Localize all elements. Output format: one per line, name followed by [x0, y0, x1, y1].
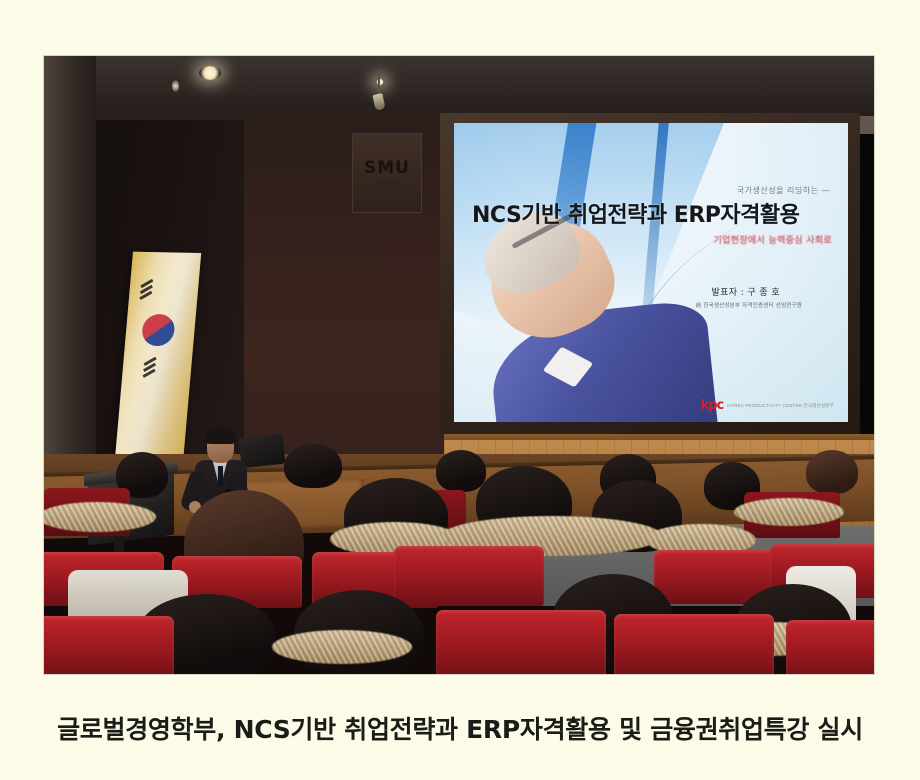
projection-screen: 국가생산성을 리딩하는 — NCS기반 취업전략과 ERP자격활용 기업현장에서… — [454, 123, 848, 422]
pendant-rod — [378, 70, 380, 96]
kpc-logo-mark: kpc — [701, 399, 724, 412]
fur-collar — [44, 502, 156, 532]
slide-title: NCS기반 취업전략과 ERP자격활용 — [472, 197, 838, 229]
page-root: SMU 상명대학교 국가생산성을 리딩하는 — NCS기반 취업전략과 ERP자… — [0, 0, 920, 780]
event-photo: SMU 상명대학교 국가생산성을 리딩하는 — NCS기반 취업전략과 ERP자… — [44, 56, 874, 674]
presenter-hair — [205, 428, 236, 444]
audience-head — [436, 450, 486, 492]
theater-seat — [44, 616, 174, 674]
kpc-logo-text: KOREA PRODUCTIVITY CENTER 한국생산성본부 — [727, 403, 834, 409]
smu-logo: SMU — [364, 160, 410, 177]
slide-tagline: 기업현장에서 능력중심 사회로 — [714, 233, 832, 246]
fur-collar — [272, 630, 412, 664]
audience-head — [284, 444, 342, 488]
theater-seat — [394, 546, 544, 606]
audience-area — [44, 444, 874, 674]
caption-text: 글로벌경영학부, NCS기반 취업전략과 ERP자격활용 및 금융권취업특강 실… — [57, 710, 863, 746]
smu-banner: SMU 상명대학교 — [352, 133, 422, 213]
ceiling-light-icon — [199, 66, 221, 80]
slide-affiliation: 前 한국생산성본부 자격인증센터 선임연구원 — [696, 301, 802, 309]
photo-caption: 글로벌경영학부, NCS기반 취업전략과 ERP자격활용 및 금융권취업특강 실… — [0, 697, 920, 759]
slide-kicker: 국가생산성을 리딩하는 — — [737, 185, 830, 196]
slide-presenter: 발표자 : 구 종 호 — [711, 285, 780, 298]
theater-seat — [614, 614, 774, 674]
slide-portrait — [482, 210, 692, 422]
ceiling-light-icon — [172, 80, 179, 92]
kpc-logo: kpc KOREA PRODUCTIVITY CENTER 한국생산성본부 — [701, 399, 834, 412]
projection-screen-frame: 국가생산성을 리딩하는 — NCS기반 취업전략과 ERP자격활용 기업현장에서… — [440, 113, 860, 434]
theater-seat — [436, 610, 606, 674]
theater-seat — [786, 620, 874, 674]
fur-collar — [734, 498, 844, 526]
smu-logo-sub: 상명대학교 — [374, 180, 400, 187]
audience-head — [806, 450, 858, 494]
